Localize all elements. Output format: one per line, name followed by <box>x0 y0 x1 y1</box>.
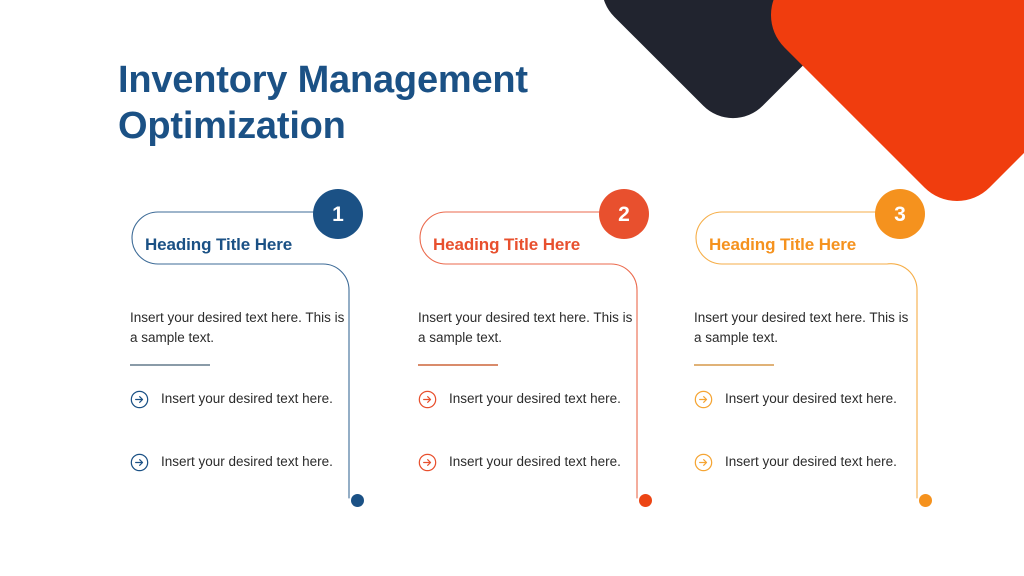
column-2-end-dot <box>639 494 652 507</box>
circle-arrow-right-icon <box>130 390 149 409</box>
column-2-bullet-text-1: Insert your desired text here. <box>449 389 621 409</box>
circle-arrow-right-icon <box>694 390 713 409</box>
slide-title-line-2: Optimization <box>118 104 638 150</box>
column-2-bullet-item-1: Insert your desired text here. <box>418 389 633 409</box>
slide-canvas: Inventory Management Optimization 1 Head… <box>0 0 1024 576</box>
column-3-bullet-text-1: Insert your desired text here. <box>725 389 897 409</box>
column-1-bullet-item-2: Insert your desired text here. <box>130 452 345 472</box>
column-1-bullet-text-1: Insert your desired text here. <box>161 389 333 409</box>
circle-arrow-right-icon <box>694 453 713 472</box>
column-1-number-badge: 1 <box>313 189 363 239</box>
column-3-heading: Heading Title Here <box>709 235 856 255</box>
column-2-heading: Heading Title Here <box>433 235 580 255</box>
column-3-bullet-item-2: Insert your desired text here. <box>694 452 909 472</box>
column-1-divider <box>130 364 210 366</box>
column-2-number-badge: 2 <box>599 189 649 239</box>
circle-arrow-right-icon <box>418 453 437 472</box>
circle-arrow-right-icon <box>418 390 437 409</box>
column-3-body-text: Insert your desired text here. This is a… <box>694 308 909 349</box>
circle-arrow-right-icon <box>130 453 149 472</box>
column-3: 3 Heading Title Here Insert your desired… <box>682 190 972 520</box>
column-3-divider <box>694 364 774 366</box>
orange-rounded-square-shape <box>752 0 1024 220</box>
column-1-bullet-text-2: Insert your desired text here. <box>161 452 333 472</box>
column-1-end-dot <box>351 494 364 507</box>
column-2: 2 Heading Title Here Insert your desired… <box>406 190 696 520</box>
column-2-divider <box>418 364 498 366</box>
column-2-bullet-item-2: Insert your desired text here. <box>418 452 633 472</box>
slide-title: Inventory Management Optimization <box>118 58 638 149</box>
column-1-heading: Heading Title Here <box>145 235 292 255</box>
column-1: 1 Heading Title Here Insert your desired… <box>118 190 408 520</box>
column-2-body-text: Insert your desired text here. This is a… <box>418 308 633 349</box>
column-3-number-badge: 3 <box>875 189 925 239</box>
column-1-bullet-item-1: Insert your desired text here. <box>130 389 345 409</box>
column-3-bullet-text-2: Insert your desired text here. <box>725 452 897 472</box>
column-3-end-dot <box>919 494 932 507</box>
slide-title-line-1: Inventory Management <box>118 58 638 104</box>
column-2-bullet-text-2: Insert your desired text here. <box>449 452 621 472</box>
column-1-body-text: Insert your desired text here. This is a… <box>130 308 345 349</box>
column-3-bullet-item-1: Insert your desired text here. <box>694 389 909 409</box>
